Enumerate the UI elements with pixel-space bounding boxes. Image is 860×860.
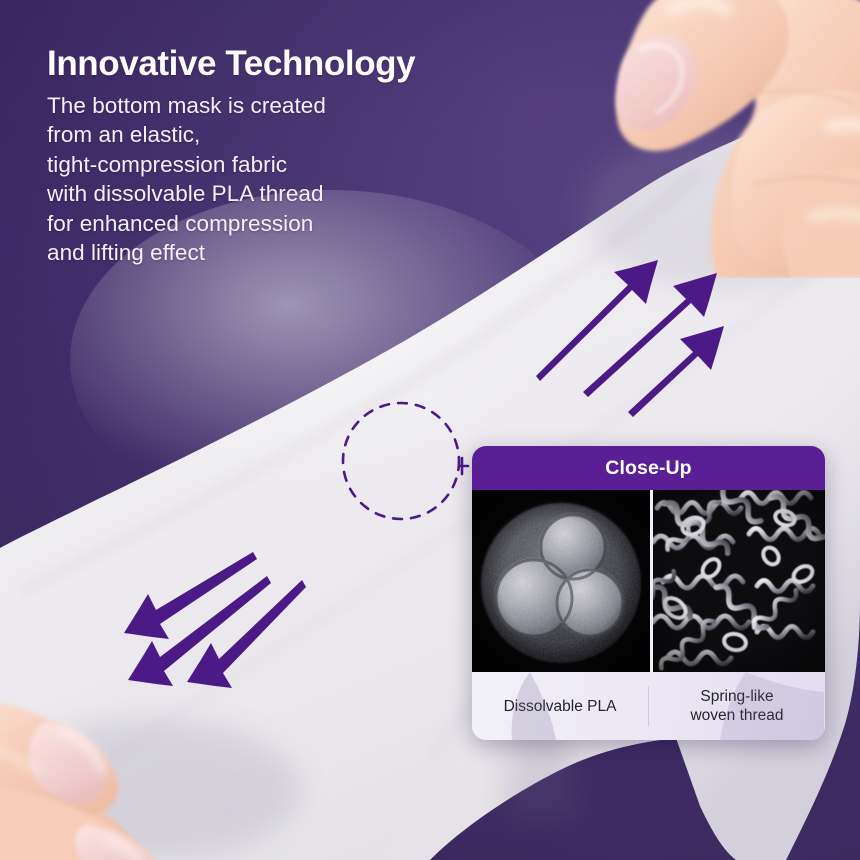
close-up-caption-row: Dissolvable PLA Spring-like woven thread — [472, 672, 825, 740]
headline-line-4: with dissolvable PLA thread — [47, 179, 517, 209]
caption-right-line-2: woven thread — [690, 707, 783, 724]
promo-banner: Innovative Technology The bottom mask is… — [0, 0, 860, 860]
callout-group — [338, 398, 478, 534]
headline-line-5: for enhanced compression — [47, 209, 517, 239]
dissolvable-pla-microscopy-image[interactable] — [472, 490, 650, 672]
caption-dissolvable-pla: Dissolvable PLA — [472, 672, 648, 740]
headline-line-6: and lifting effect — [47, 238, 517, 268]
hand-pinching-fabric-top-right — [596, 0, 860, 278]
close-up-card-header: Close-Up — [472, 446, 825, 490]
headline-line-2: from an elastic, — [47, 120, 517, 150]
dashed-inspection-circle — [343, 403, 459, 519]
caption-spring-like-woven-thread: Spring-like woven thread — [649, 672, 825, 740]
headline-paragraph: The bottom mask is created from an elast… — [47, 91, 517, 268]
headline-line-1: The bottom mask is created — [47, 91, 517, 121]
caption-right-text: Spring-like woven thread — [690, 687, 783, 725]
close-up-card[interactable]: Close-Up — [472, 446, 825, 740]
close-up-image-row — [472, 490, 825, 672]
headline-line-3: tight-compression fabric — [47, 150, 517, 180]
caption-left-text: Dissolvable PLA — [504, 697, 617, 716]
headline-block: Innovative Technology The bottom mask is… — [47, 46, 517, 268]
page-title: Innovative Technology — [47, 46, 517, 82]
close-up-title: Close-Up — [605, 457, 691, 480]
caption-right-line-1: Spring-like — [700, 688, 773, 705]
spring-like-woven-thread-microscopy-image[interactable] — [653, 490, 825, 672]
hand-pinching-fabric-bottom-left — [0, 690, 256, 860]
